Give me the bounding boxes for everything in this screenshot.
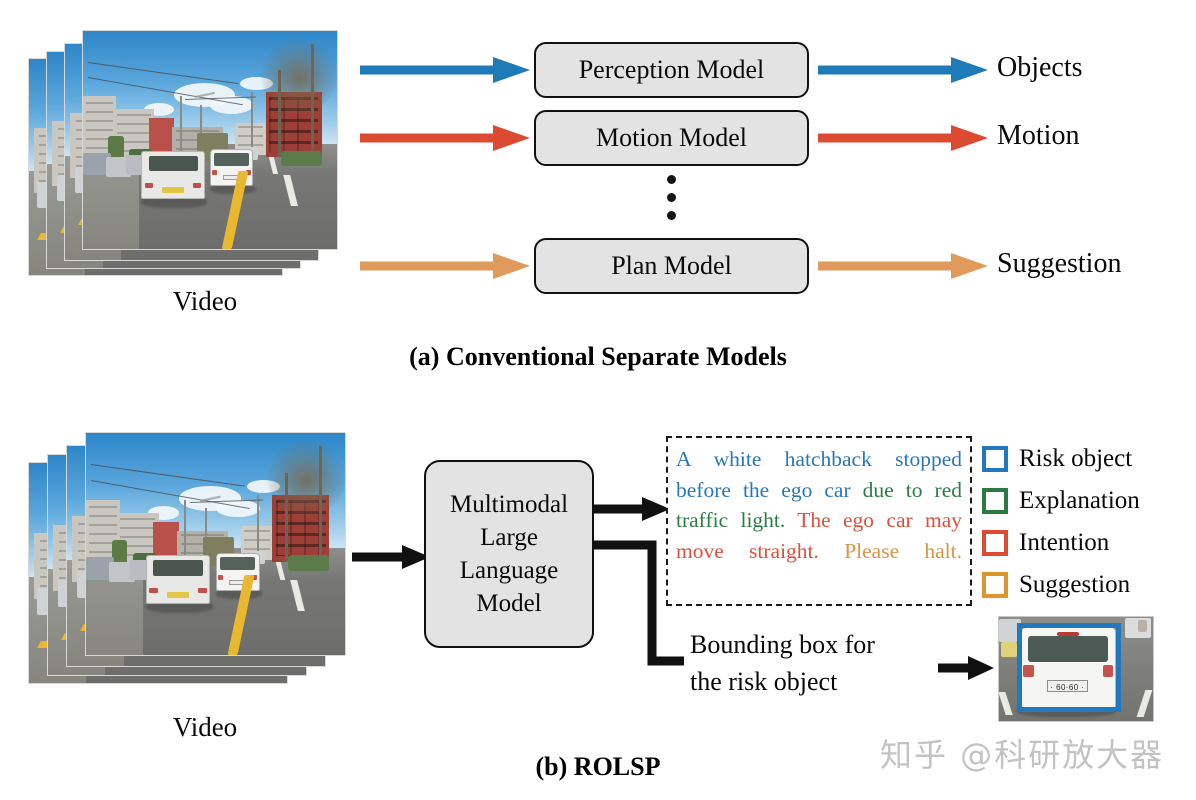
legend-item-intention[interactable]: Intention: [982, 522, 1140, 564]
arrow-output-suggestion: [818, 251, 988, 281]
model-box-motion[interactable]: Motion Model: [534, 110, 809, 166]
mllm-line-2: Large: [450, 521, 568, 554]
legend: Risk object Explanation Intention Sugges…: [982, 438, 1140, 606]
legend-label: Explanation: [1019, 487, 1140, 515]
mllm-label: Multimodal Large Language Model: [450, 488, 568, 620]
mllm-line-1: Multimodal: [450, 488, 568, 521]
mllm-line-3: Language: [450, 554, 568, 587]
vertical-ellipsis-icon: [667, 175, 676, 220]
video-label-a: Video: [130, 286, 280, 317]
video-label-b: Video: [130, 712, 280, 743]
video-frame-front-b: [85, 432, 346, 656]
branch-label-line-2: the risk object: [690, 667, 837, 697]
arrow-mllm-to-text: [594, 496, 670, 522]
legend-swatch-suggestion-icon: [982, 572, 1008, 598]
arrow-input-motion: [360, 123, 530, 153]
output-text-line: A white hatchback stopped before the ego…: [676, 444, 962, 566]
figure-root: Video Perception Model Motion Model Plan…: [0, 0, 1196, 800]
output-label-objects: Objects: [997, 52, 1083, 84]
legend-item-explanation[interactable]: Explanation: [982, 480, 1140, 522]
background-vehicle: [1001, 642, 1018, 657]
legend-swatch-explanation-icon: [982, 488, 1008, 514]
output-text-panel: A white hatchback stopped before the ego…: [666, 436, 972, 606]
arrow-input-plan: [360, 251, 530, 281]
legend-item-suggestion[interactable]: Suggestion: [982, 564, 1140, 606]
video-stack-a: [28, 30, 338, 290]
arrow-output-objects: [818, 55, 988, 85]
bbox-crop-image: · 60·60 ·: [998, 616, 1154, 722]
arrow-output-motion: [818, 123, 988, 153]
segment-suggestion: Please halt.: [844, 539, 962, 563]
arrow-input-perception: [360, 55, 530, 85]
background-pedestrian: [1138, 620, 1147, 631]
model-box-perception[interactable]: Perception Model: [534, 42, 809, 98]
risk-object-bounding-box: [1017, 623, 1120, 711]
legend-swatch-risk-object-icon: [982, 446, 1008, 472]
legend-swatch-intention-icon: [982, 530, 1008, 556]
caption-panel-b: (b) ROLSP: [0, 752, 1196, 782]
mllm-line-4: Model: [450, 587, 568, 620]
branch-label-line-1: Bounding box for: [690, 630, 875, 660]
arrow-to-bbox-crop: [938, 655, 994, 681]
ellipsis-dot: [667, 175, 676, 184]
video-frame-front-a: [82, 30, 338, 250]
output-label-motion: Motion: [997, 120, 1079, 152]
ellipsis-dot: [667, 193, 676, 202]
legend-item-risk-object[interactable]: Risk object: [982, 438, 1140, 480]
output-label-suggestion: Suggestion: [997, 248, 1121, 280]
legend-label: Suggestion: [1019, 571, 1130, 599]
video-stack-b: [28, 432, 348, 702]
arrow-video-to-mllm: [352, 544, 430, 570]
model-box-mllm[interactable]: Multimodal Large Language Model: [424, 460, 594, 648]
caption-panel-a: (a) Conventional Separate Models: [0, 342, 1196, 372]
legend-label: Risk object: [1019, 445, 1132, 473]
ellipsis-dot: [667, 211, 676, 220]
legend-label: Intention: [1019, 529, 1109, 557]
model-box-plan[interactable]: Plan Model: [534, 238, 809, 294]
